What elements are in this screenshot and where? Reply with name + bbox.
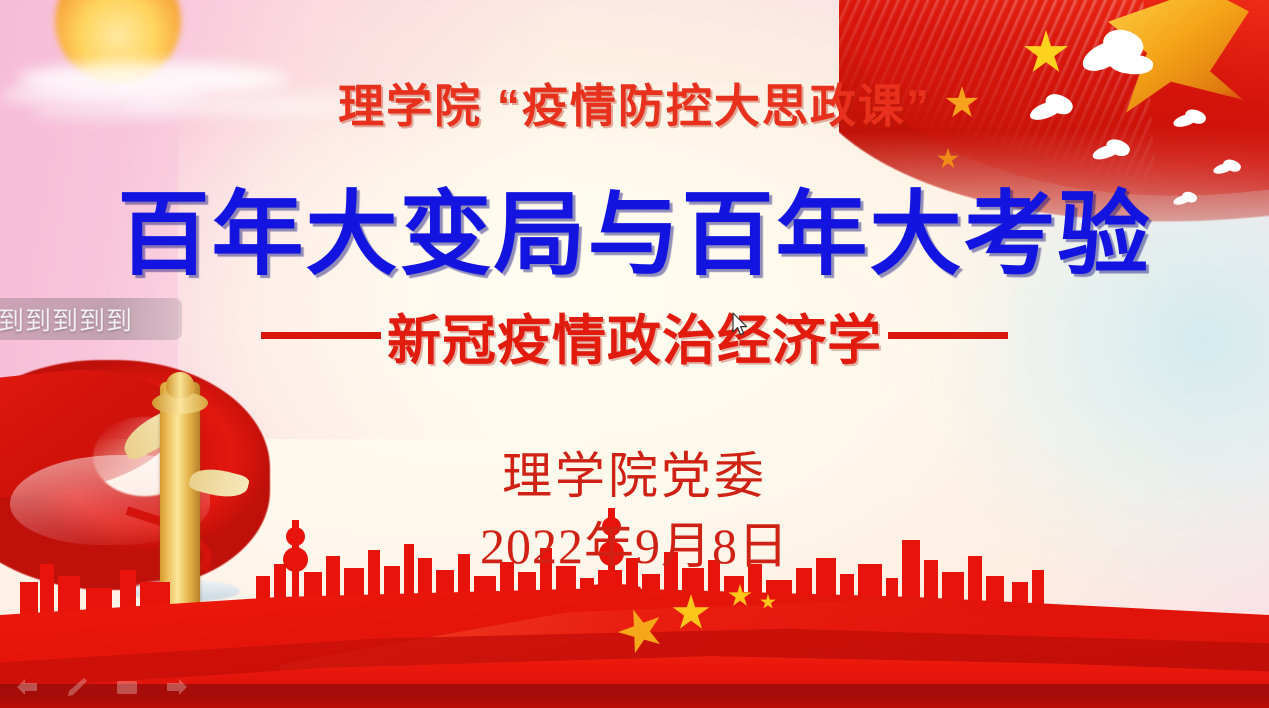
rectangle-icon[interactable] [114, 676, 140, 698]
dash-left [261, 332, 381, 339]
slide-tagline-row: 新冠疫情政治经济学 [0, 296, 1269, 375]
forward-arrow-icon[interactable] [164, 676, 190, 698]
slide-subtitle: 理学院 “疫情防控大思政课” [0, 70, 1269, 136]
mouse-cursor [732, 312, 750, 338]
chat-message-text: 到到到到到 [0, 301, 133, 338]
back-arrow-icon[interactable] [14, 676, 40, 698]
pencil-icon[interactable] [64, 676, 90, 698]
dash-right [888, 332, 1008, 339]
slide-tagline: 新冠疫情政治经济学 [387, 296, 882, 375]
annotation-toolbar[interactable] [14, 676, 190, 698]
chat-message-overlay: 到到到到到 [0, 298, 182, 340]
slide-organization: 理学院党委 [0, 436, 1269, 508]
slide-title: 百年大变局与百年大考验 [0, 160, 1269, 293]
presentation-slide: 理学院 “疫情防控大思政课” 百年大变局与百年大考验 新冠疫情政治经济学 理学院… [0, 0, 1269, 708]
slide-text-block: 理学院 “疫情防控大思政课” 百年大变局与百年大考验 新冠疫情政治经济学 理学院… [0, 0, 1269, 708]
slide-date: 2022年9月8日 [0, 506, 1269, 578]
